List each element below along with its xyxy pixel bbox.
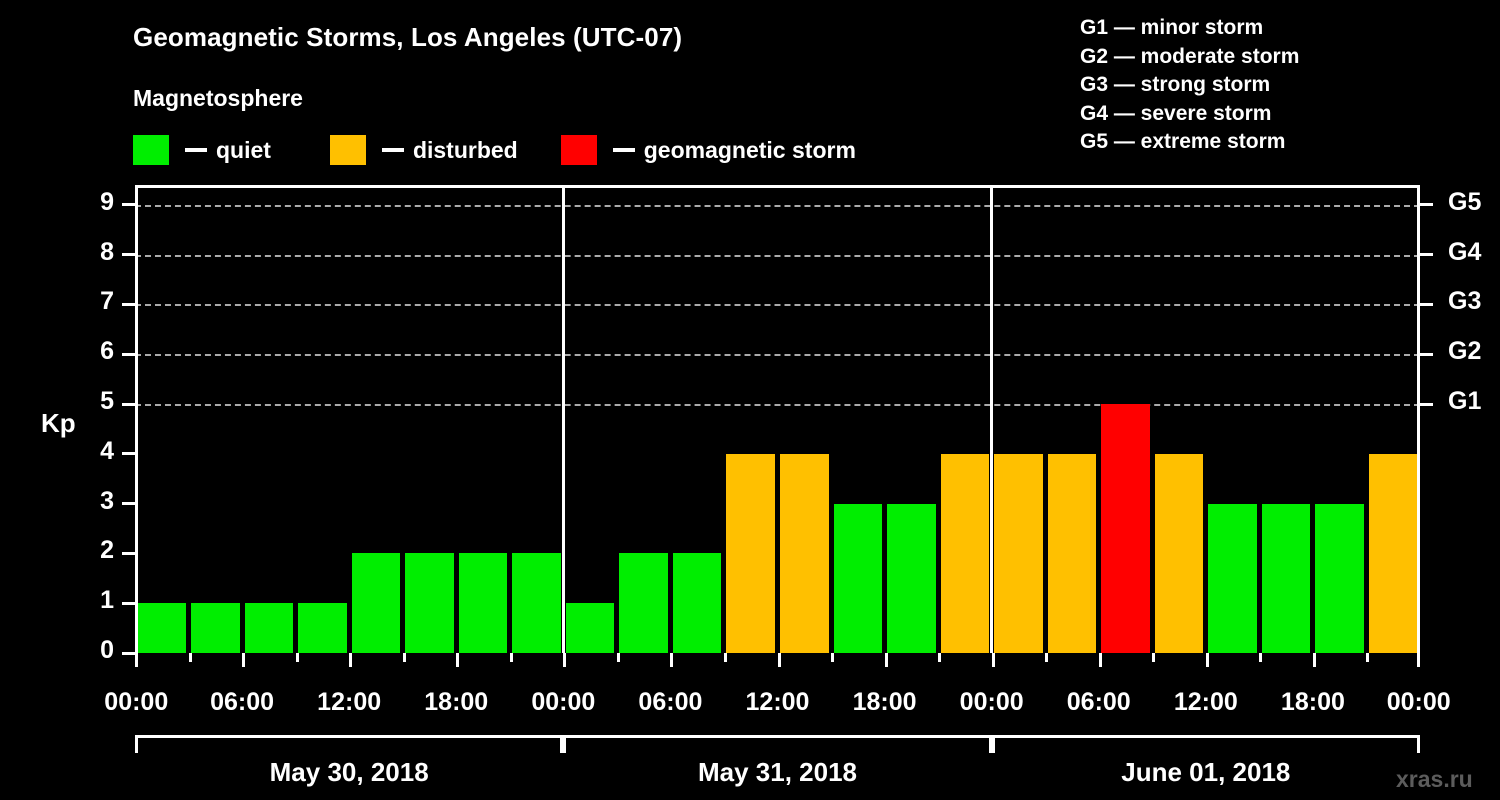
x-tick (778, 653, 781, 667)
g-tick-G1 (1420, 403, 1433, 406)
g-tick-G5 (1420, 203, 1433, 206)
y-tick-1 (122, 602, 135, 605)
watermark: xras.ru (1396, 766, 1473, 793)
x-tick (1259, 653, 1262, 662)
legend-item-quiet: quiet (133, 135, 271, 165)
legend-dash-quiet (185, 148, 207, 152)
x-tick (724, 653, 727, 662)
x-tick-label: 12:00 (1174, 688, 1238, 717)
y-tick-label-6: 6 (74, 337, 114, 366)
x-tick (1045, 653, 1048, 662)
y-tick-0 (122, 652, 135, 655)
y-tick-3 (122, 502, 135, 505)
y-tick-label-3: 3 (74, 487, 114, 516)
x-tick (1417, 653, 1420, 667)
x-tick-label: 00:00 (1387, 688, 1451, 717)
x-tick-label: 18:00 (853, 688, 917, 717)
g-tick-G3 (1420, 303, 1433, 306)
g-scale-line-g3: G3 — strong storm (1080, 71, 1299, 100)
y-tick-label-1: 1 (74, 586, 114, 615)
date-label: May 30, 2018 (270, 757, 429, 788)
g-scale-line-g1: G1 — minor storm (1080, 14, 1299, 43)
x-tick (403, 653, 406, 662)
legend-swatch-storm (561, 135, 597, 165)
x-tick-label: 18:00 (424, 688, 488, 717)
g-tick-label-G5: G5 (1448, 188, 1481, 217)
x-tick (831, 653, 834, 662)
x-tick (349, 653, 352, 667)
x-tick (296, 653, 299, 662)
x-tick (938, 653, 941, 662)
x-tick (1313, 653, 1316, 667)
g-scale-line-g4: G4 — severe storm (1080, 100, 1299, 129)
y-tick-6 (122, 353, 135, 356)
y-tick-8 (122, 253, 135, 256)
g-tick-label-G2: G2 (1448, 337, 1481, 366)
x-tick (510, 653, 513, 662)
date-bracket-1 (135, 735, 563, 753)
y-tick-label-9: 9 (74, 188, 114, 217)
y-tick-label-8: 8 (74, 238, 114, 267)
date-bracket-2 (563, 735, 991, 753)
x-tick (1152, 653, 1155, 662)
y-tick-label-4: 4 (74, 437, 114, 466)
g-tick-label-G4: G4 (1448, 238, 1481, 267)
legend-item-disturbed: disturbed (330, 135, 518, 165)
x-tick (563, 653, 566, 667)
g-scale-line-g2: G2 — moderate storm (1080, 43, 1299, 72)
g-tick-label-G3: G3 (1448, 287, 1481, 316)
x-tick (242, 653, 245, 667)
x-tick-label: 00:00 (531, 688, 595, 717)
legend-label-quiet: quiet (216, 137, 271, 164)
y-axis-title: Kp (41, 408, 76, 439)
x-tick-label: 06:00 (210, 688, 274, 717)
magnetosphere-label: Magnetosphere (133, 85, 303, 112)
g-tick-label-G1: G1 (1448, 387, 1481, 416)
y-tick-9 (122, 203, 135, 206)
legend: quiet disturbed geomagnetic storm (133, 133, 856, 167)
x-tick-label: 06:00 (638, 688, 702, 717)
g-scale-line-g5: G5 — extreme storm (1080, 128, 1299, 157)
x-tick (189, 653, 192, 662)
x-tick-label: 00:00 (104, 688, 168, 717)
x-tick (885, 653, 888, 667)
x-tick (1366, 653, 1369, 662)
date-bracket-3 (992, 735, 1420, 753)
y-tick-label-0: 0 (74, 636, 114, 665)
y-tick-5 (122, 403, 135, 406)
x-tick (670, 653, 673, 667)
date-label: June 01, 2018 (1121, 757, 1290, 788)
legend-dash-disturbed (382, 148, 404, 152)
date-label: May 31, 2018 (698, 757, 857, 788)
chart-root: Geomagnetic Storms, Los Angeles (UTC-07)… (0, 0, 1500, 800)
x-tick (135, 653, 138, 667)
y-tick-label-7: 7 (74, 287, 114, 316)
x-axis-ticks (135, 653, 1420, 667)
x-tick (617, 653, 620, 662)
x-tick (1206, 653, 1209, 667)
x-tick-label: 18:00 (1281, 688, 1345, 717)
x-tick (456, 653, 459, 667)
legend-label-storm: geomagnetic storm (644, 137, 856, 164)
g-scale-legend: G1 — minor storm G2 — moderate storm G3 … (1080, 14, 1299, 157)
y-tick-label-5: 5 (74, 387, 114, 416)
legend-dash-storm (613, 148, 635, 152)
y-tick-2 (122, 552, 135, 555)
plot-frame (135, 185, 1420, 653)
x-tick-label: 06:00 (1067, 688, 1131, 717)
x-tick (992, 653, 995, 667)
x-tick (1099, 653, 1102, 667)
y-tick-7 (122, 303, 135, 306)
page-title: Geomagnetic Storms, Los Angeles (UTC-07) (133, 22, 682, 53)
legend-label-disturbed: disturbed (413, 137, 518, 164)
legend-item-storm: geomagnetic storm (561, 135, 856, 165)
legend-swatch-disturbed (330, 135, 366, 165)
y-tick-4 (122, 452, 135, 455)
legend-swatch-quiet (133, 135, 169, 165)
y-tick-label-2: 2 (74, 536, 114, 565)
g-tick-G2 (1420, 353, 1433, 356)
x-tick-label: 12:00 (746, 688, 810, 717)
x-tick-label: 12:00 (317, 688, 381, 717)
x-tick-label: 00:00 (960, 688, 1024, 717)
g-tick-G4 (1420, 253, 1433, 256)
